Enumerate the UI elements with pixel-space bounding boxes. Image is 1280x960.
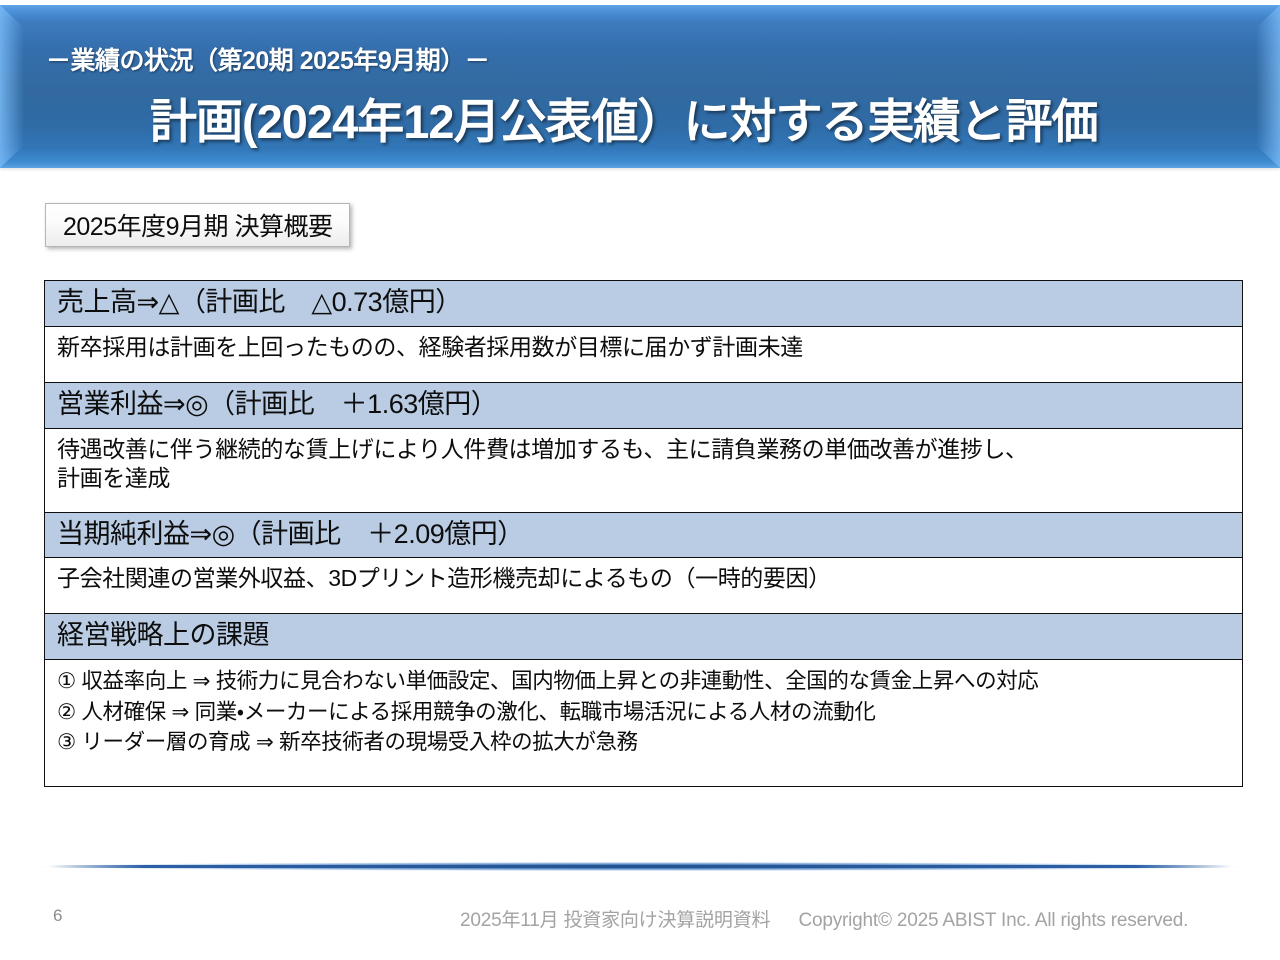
table-row-body-line: 計画を達成 <box>57 464 1232 494</box>
footer-document-label: 2025年11月 投資家向け決算説明資料 <box>460 910 770 931</box>
results-evaluation-table: 売上高⇒△（計画比 △0.73億円）新卒採用は計画を上回ったものの、経験者採用数… <box>44 280 1243 787</box>
table-row-header: 売上高⇒△（計画比 △0.73億円） <box>45 281 1242 327</box>
title-banner: －業績の状況（第20期 2025年9月期）－ 計画(2024年12月公表値）に対… <box>0 0 1280 178</box>
banner-eyebrow: －業績の状況（第20期 2025年9月期）－ <box>46 41 489 77</box>
table-row-body-text: 子会社関連の営業外収益、3Dプリント造形機売却によるもの（一時的要因） <box>57 564 1232 594</box>
table-row-header-label: 当期純利益⇒◎（計画比 ＋2.09億円） <box>57 518 1242 552</box>
footer-text: 2025年11月 投資家向け決算説明資料 Copyright© 2025 ABI… <box>460 905 1188 932</box>
table-row-header-label: 売上高⇒△（計画比 △0.73億円） <box>57 286 1242 320</box>
table-row-body: 待遇改善に伴う継続的な賃上げにより人件費は増加するも、主に請負業務の単価改善が進… <box>45 429 1242 513</box>
banner-surface: －業績の状況（第20期 2025年9月期）－ 計画(2024年12月公表値）に対… <box>0 5 1280 168</box>
footer-divider-line <box>50 865 1230 868</box>
table-row-body-line: 待遇改善に伴う継続的な賃上げにより人件費は増加するも、主に請負業務の単価改善が進… <box>57 435 1232 465</box>
table-row-body-line: 子会社関連の営業外収益、3Dプリント造形機売却によるもの（一時的要因） <box>57 564 1232 594</box>
table-row-body: ① 収益率向上 ⇒ 技術力に見合わない単価設定、国内物価上昇との非連動性、全国的… <box>45 660 1242 786</box>
table-row-body: 新卒採用は計画を上回ったものの、経験者採用数が目標に届かず計画未達 <box>45 327 1242 383</box>
page-title: 計画(2024年12月公表値）に対する実績と評価 <box>150 83 1098 152</box>
footer-copyright: Copyright© 2025 ABIST Inc. All rights re… <box>798 910 1188 931</box>
table-row-body: 子会社関連の営業外収益、3Dプリント造形機売却によるもの（一時的要因） <box>45 558 1242 614</box>
table-row-body-line: ① 収益率向上 ⇒ 技術力に見合わない単価設定、国内物価上昇との非連動性、全国的… <box>57 666 1232 697</box>
table-row-header: 経営戦略上の課題 <box>45 614 1242 660</box>
table-row-header-label: 経営戦略上の課題 <box>57 619 1242 653</box>
table-row-body-text: ① 収益率向上 ⇒ 技術力に見合わない単価設定、国内物価上昇との非連動性、全国的… <box>57 666 1232 758</box>
table-row-body-line: 新卒採用は計画を上回ったものの、経験者採用数が目標に届かず計画未達 <box>57 333 1232 363</box>
table-row-body-line: ② 人材確保 ⇒ 同業・メーカーによる採用競争の激化、転職市場活況による人材の流… <box>57 697 1232 728</box>
page-number: 6 <box>53 906 62 926</box>
table-row-body-text: 待遇改善に伴う継続的な賃上げにより人件費は増加するも、主に請負業務の単価改善が進… <box>57 435 1232 495</box>
section-chip: 2025年度9月期 決算概要 <box>45 203 350 247</box>
table-row-body-line: ③ リーダー層の育成 ⇒ 新卒技術者の現場受入枠の拡大が急務 <box>57 727 1232 758</box>
table-row-header-label: 営業利益⇒◎（計画比 ＋1.63億円） <box>57 388 1242 422</box>
table-row-body-text: 新卒採用は計画を上回ったものの、経験者採用数が目標に届かず計画未達 <box>57 333 1232 363</box>
table-row-header: 営業利益⇒◎（計画比 ＋1.63億円） <box>45 383 1242 429</box>
section-chip-label: 2025年度9月期 決算概要 <box>63 207 332 243</box>
table-row-header: 当期純利益⇒◎（計画比 ＋2.09億円） <box>45 513 1242 559</box>
